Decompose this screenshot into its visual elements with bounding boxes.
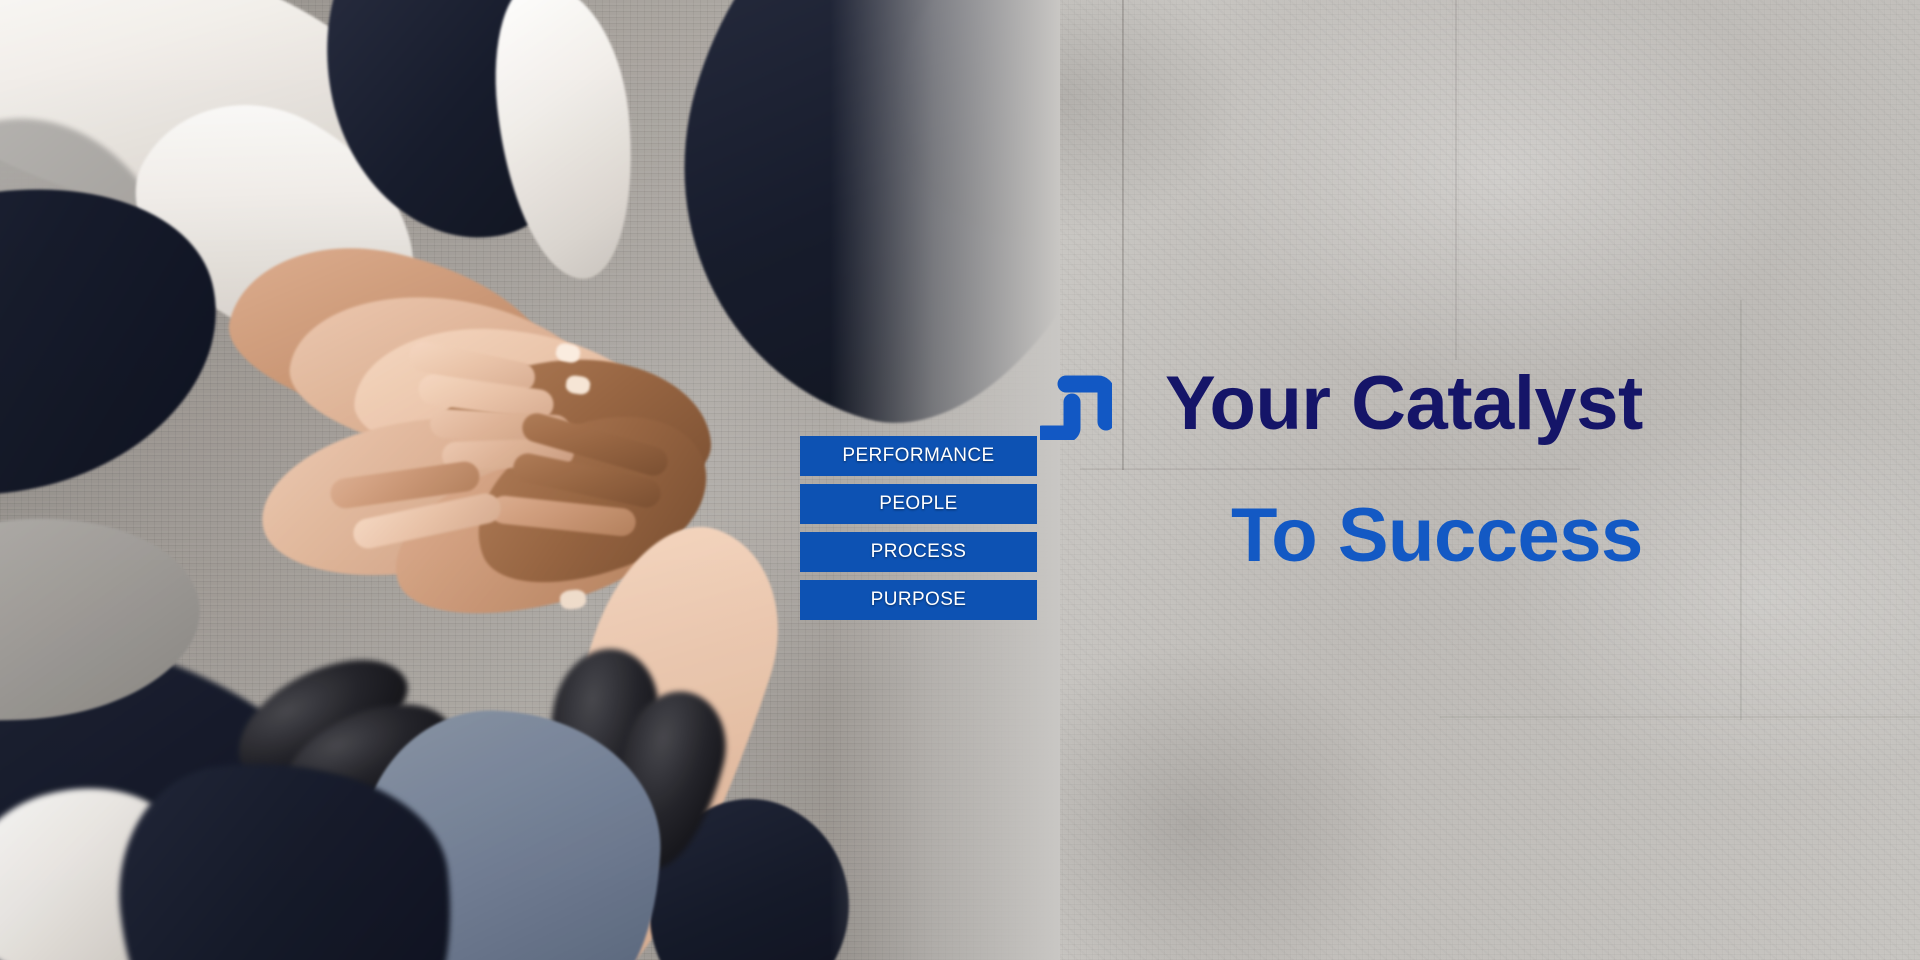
pillar-label: PURPOSE: [871, 589, 967, 611]
pillar-label: PEOPLE: [879, 493, 957, 515]
pillar-bar-people[interactable]: PEOPLE: [800, 484, 1037, 524]
headline-line-1: Your Catalyst: [1165, 360, 1905, 448]
headline: Your Catalyst To Success: [1165, 360, 1905, 580]
pillars-stack: PERFORMANCE PEOPLE PROCESS PURPOSE: [800, 436, 1037, 620]
double-arrow-up-right-icon[interactable]: [1040, 368, 1112, 440]
headline-line-2: To Success: [1231, 492, 1905, 580]
pillar-bar-purpose[interactable]: PURPOSE: [800, 580, 1037, 620]
pillar-label: PROCESS: [871, 541, 967, 563]
pillar-bar-performance[interactable]: PERFORMANCE: [800, 436, 1037, 476]
pillar-bar-process[interactable]: PROCESS: [800, 532, 1037, 572]
pillar-label: PERFORMANCE: [842, 445, 994, 467]
marketing-banner: PERFORMANCE PEOPLE PROCESS PURPOSE Your …: [0, 0, 1920, 960]
